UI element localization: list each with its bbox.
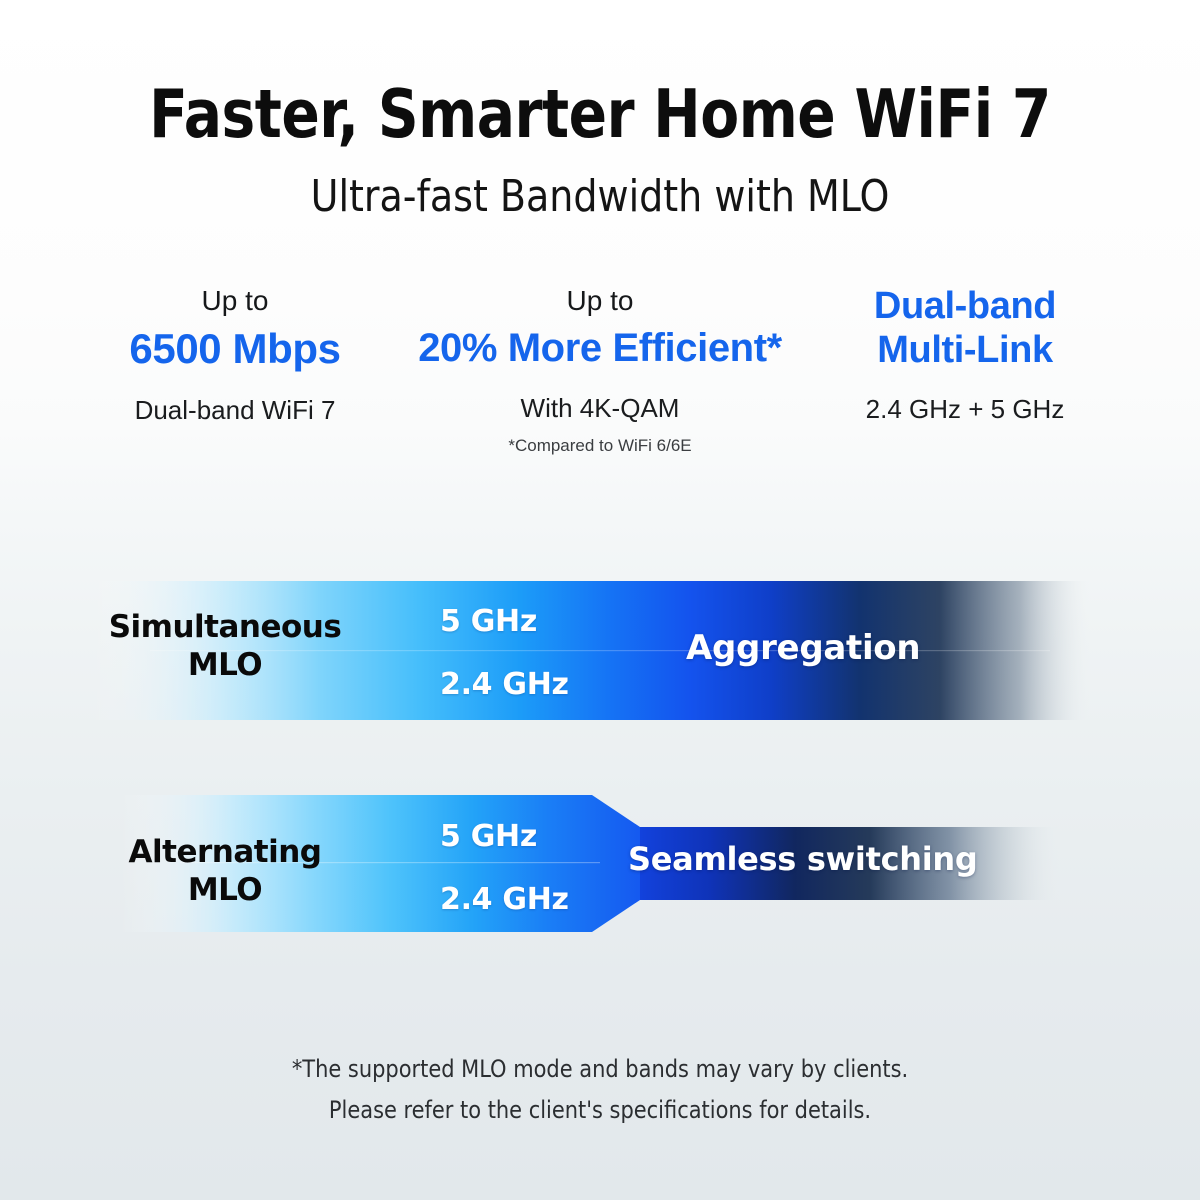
band-label-line1: Simultaneous [60, 609, 390, 647]
mlo-band-simultaneous: Simultaneous MLO 5 GHz 2.4 GHz Aggregati… [0, 575, 1200, 730]
stat-footnote: *Compared to WiFi 6/6E [410, 436, 790, 456]
stats-row: Up to 6500 Mbps Dual-band WiFi 7 Up to 2… [60, 285, 1140, 457]
band-frequency-5ghz: 5 GHz [440, 819, 537, 854]
legal-footnote: *The supported MLO mode and bands may va… [18, 1050, 1182, 1130]
band-label-simultaneous: Simultaneous MLO [60, 609, 390, 685]
band-frequency-24ghz: 2.4 GHz [440, 667, 569, 702]
band-frequency-24ghz: 2.4 GHz [440, 882, 569, 917]
band-label-line2: MLO [60, 647, 390, 685]
stat-headline: Dual-band Multi-Link [790, 285, 1140, 372]
wifi7-marketing-infographic: Faster, Smarter Home WiFi 7 Ultra-fast B… [0, 0, 1200, 1200]
page-title: Faster, Smarter Home WiFi 7 [36, 78, 1164, 150]
band-headline-aggregation: Aggregation [686, 628, 920, 668]
mlo-band-alternating: Alternating MLO 5 GHz 2.4 GHz Seamless s… [0, 790, 1200, 945]
band-headline-seamless-switching: Seamless switching [628, 840, 977, 878]
stat-eyebrow: Up to [60, 285, 410, 317]
stat-card-bandwidth: Up to 6500 Mbps Dual-band WiFi 7 [60, 285, 410, 427]
stat-headline: 6500 Mbps [60, 325, 410, 373]
stat-headline-line2: Multi-Link [790, 329, 1140, 373]
stat-description: With 4K-QAM [410, 393, 790, 424]
stat-description: Dual-band WiFi 7 [60, 395, 410, 426]
footnote-line-2: Please refer to the client's specificati… [18, 1091, 1182, 1130]
stat-headline: 20% More Efficient* [410, 325, 790, 371]
band-frequency-5ghz: 5 GHz [440, 604, 537, 639]
stat-card-multilink: Dual-band Multi-Link 2.4 GHz + 5 GHz [790, 285, 1140, 426]
stat-headline-line1: Dual-band [790, 285, 1140, 329]
band-label-line1: Alternating [60, 834, 390, 872]
band-label-alternating: Alternating MLO [60, 834, 390, 910]
stat-eyebrow: Up to [410, 285, 790, 317]
band-label-line2: MLO [60, 872, 390, 910]
footnote-line-1: *The supported MLO mode and bands may va… [18, 1050, 1182, 1089]
stat-description: 2.4 GHz + 5 GHz [790, 394, 1140, 425]
page-subtitle: Ultra-fast Bandwidth with MLO [24, 172, 1176, 223]
stat-card-efficiency: Up to 20% More Efficient* With 4K-QAM *C… [410, 285, 790, 457]
